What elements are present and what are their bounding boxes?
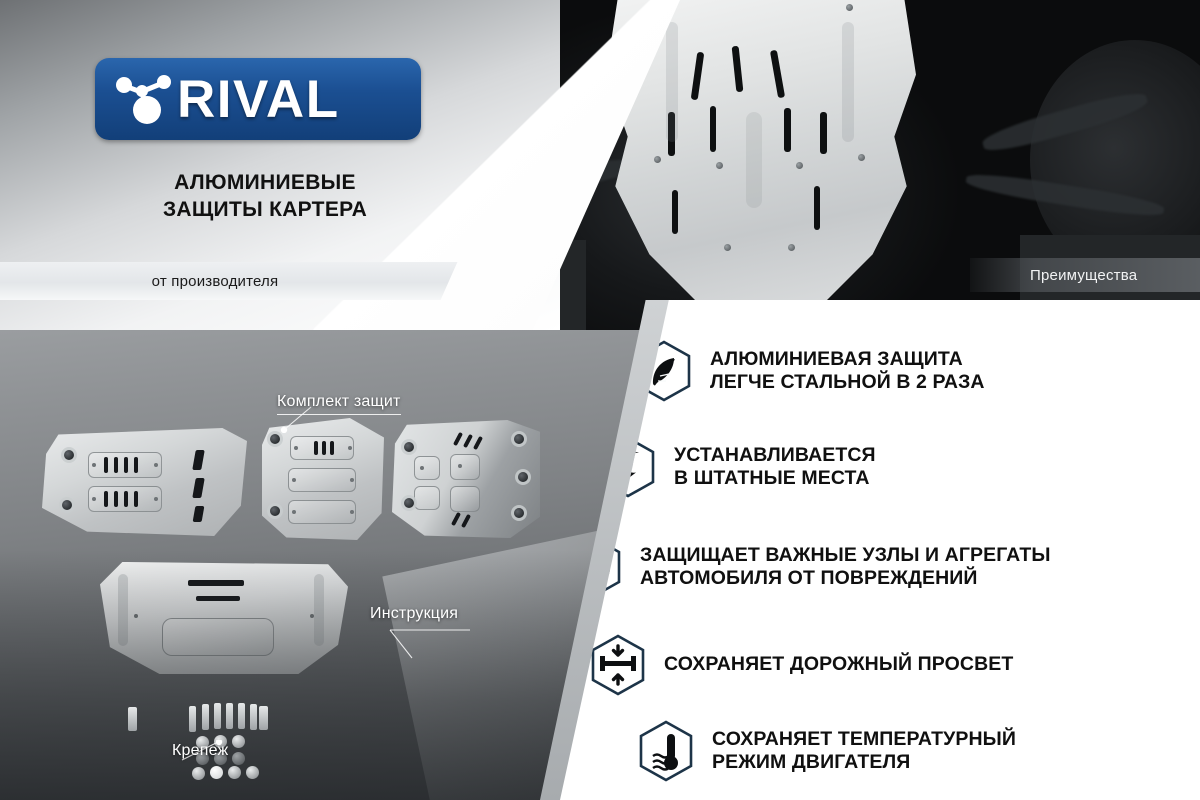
benefit-text-2: УСТАНАВЛИВАЕТСЯ В ШТАТНЫЕ МЕСТА — [674, 444, 876, 491]
advantages-tab-label: Преимущества — [1030, 267, 1137, 284]
page-title-line2: ЗАЩИТЫ КАРТЕРА — [95, 197, 435, 224]
label-manual: Инструкция — [370, 605, 458, 623]
benefits-panel: АЛЮМИНИЕВАЯ ЗАЩИТА ЛЕГЧЕ СТАЛЬНОЙ В 2 РА… — [560, 300, 1200, 800]
benefit-line1: СОХРАНЯЕТ ТЕМПЕРАТУРНЫЙ — [712, 728, 1016, 751]
benefit-line2: В ШТАТНЫЕ МЕСТА — [674, 467, 876, 490]
ground-clearance-icon — [590, 634, 646, 696]
benefit-item-3: ЗАЩИЩАЕТ ВАЖНЫЕ УЗЛЫ И АГРЕГАТЫ АВТОМОБИ… — [566, 536, 1051, 598]
skid-plate-c — [392, 420, 540, 538]
thermometer-icon — [638, 720, 694, 782]
benefit-text-3: ЗАЩИЩАЕТ ВАЖНЫЕ УЗЛЫ И АГРЕГАТЫ АВТОМОБИ… — [640, 544, 1051, 591]
rival-logo-text: RIVAL — [177, 73, 340, 126]
page-title-line1: АЛЮМИНИЕВЫЕ — [95, 170, 435, 197]
rival-logo: RIVAL — [95, 58, 421, 140]
label-hardware-text: Крепеж — [172, 742, 228, 759]
benefit-line1: АЛЮМИНИЕВАЯ ЗАЩИТА — [710, 348, 985, 371]
benefit-item-5: СОХРАНЯЕТ ТЕМПЕРАТУРНЫЙ РЕЖИМ ДВИГАТЕЛЯ — [638, 720, 1016, 782]
benefit-text-1: АЛЮМИНИЕВАЯ ЗАЩИТА ЛЕГЧЕ СТАЛЬНОЙ В 2 РА… — [710, 348, 985, 395]
label-kit: Комплект защит — [277, 393, 401, 415]
benefit-line2: АВТОМОБИЛЯ ОТ ПОВРЕЖДЕНИЙ — [640, 567, 1051, 590]
benefit-line1: ЗАЩИЩАЕТ ВАЖНЫЕ УЗЛЫ И АГРЕГАТЫ — [640, 544, 1051, 567]
benefit-line2: РЕЖИМ ДВИГАТЕЛЯ — [712, 751, 1016, 774]
brand-panel: RIVAL АЛЮМИНИЕВЫЕ ЗАЩИТЫ КАРТЕРА от прои… — [0, 0, 560, 330]
benefit-item-2: УСТАНАВЛИВАЕТСЯ В ШТАТНЫЕ МЕСТА — [600, 436, 876, 498]
promo-banner: Преимущества — [0, 0, 1200, 800]
benefit-line1: СОХРАНЯЕТ ДОРОЖНЫЙ ПРОСВЕТ — [664, 653, 1013, 676]
skid-plate-b — [262, 418, 384, 540]
label-manual-text: Инструкция — [370, 605, 458, 622]
benefit-text-5: СОХРАНЯЕТ ТЕМПЕРАТУРНЫЙ РЕЖИМ ДВИГАТЕЛЯ — [712, 728, 1016, 775]
leader-line-manual — [386, 628, 476, 662]
benefit-line1: УСТАНАВЛИВАЕТСЯ — [674, 444, 876, 467]
page-title: АЛЮМИНИЕВЫЕ ЗАЩИТЫ КАРТЕРА — [95, 170, 435, 224]
label-hardware: Крепеж — [172, 742, 228, 760]
molecule-icon — [111, 70, 175, 128]
skid-plate-a — [42, 428, 247, 536]
benefit-item-4: СОХРАНЯЕТ ДОРОЖНЫЙ ПРОСВЕТ — [590, 634, 1013, 696]
tagline-text: от производителя — [152, 273, 279, 290]
tagline-bar: от производителя — [0, 262, 430, 300]
benefit-item-1: АЛЮМИНИЕВАЯ ЗАЩИТА ЛЕГЧЕ СТАЛЬНОЙ В 2 РА… — [636, 340, 985, 402]
label-kit-text: Комплект защит — [277, 393, 401, 410]
benefit-text-4: СОХРАНЯЕТ ДОРОЖНЫЙ ПРОСВЕТ — [664, 653, 1013, 676]
benefit-line2: ЛЕГЧЕ СТАЛЬНОЙ В 2 РАЗА — [710, 371, 985, 394]
advantages-tab[interactable]: Преимущества — [970, 258, 1200, 292]
